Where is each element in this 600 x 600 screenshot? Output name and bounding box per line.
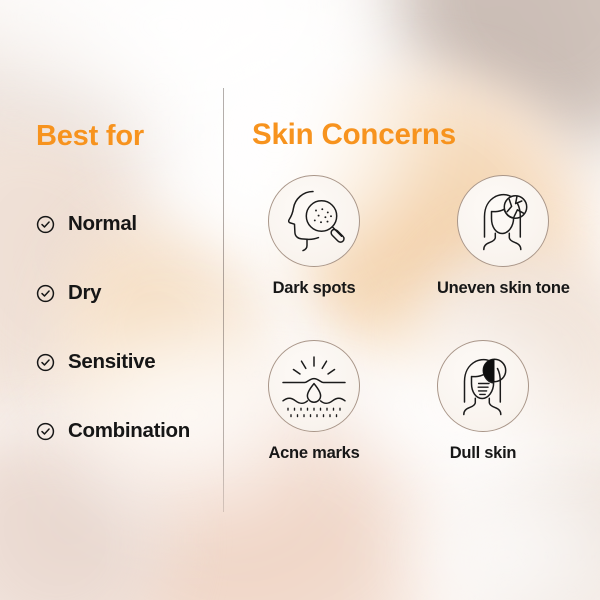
benefit-label: Combination	[68, 419, 190, 443]
check-circle-icon	[36, 422, 55, 441]
face-dull-contrast-icon	[437, 340, 529, 432]
concern-item-acne-marks: Acne marks	[268, 340, 360, 463]
benefit-label: Dry	[68, 281, 101, 305]
benefit-item-sensitive: Sensitive	[36, 350, 155, 374]
concern-item-dark-spots: Dark spots	[268, 175, 360, 298]
concern-label: Uneven skin tone	[437, 279, 570, 298]
check-circle-icon	[36, 215, 55, 234]
skin-concerns-panel: Dark spots	[223, 0, 600, 600]
concern-label: Acne marks	[268, 444, 359, 463]
face-uneven-tone-icon	[457, 175, 549, 267]
concern-label: Dull skin	[450, 444, 517, 463]
benefit-item-combination: Combination	[36, 419, 190, 443]
check-circle-icon	[36, 353, 55, 372]
benefit-label: Normal	[68, 212, 137, 236]
check-circle-icon	[36, 284, 55, 303]
face-magnifier-spots-icon	[268, 175, 360, 267]
concern-item-dull-skin: Dull skin	[437, 340, 529, 463]
benefit-item-normal: Normal	[36, 212, 137, 236]
concern-label: Dark spots	[273, 279, 356, 298]
benefit-label: Sensitive	[68, 350, 155, 374]
product-info-card: Best for Normal Dry	[0, 0, 600, 600]
best-for-heading: Best for	[36, 120, 144, 153]
best-for-panel: Best for Normal Dry	[0, 0, 223, 600]
concern-item-uneven-skin-tone: Uneven skin tone	[437, 175, 570, 298]
skin-layers-droplet-icon	[268, 340, 360, 432]
benefit-item-dry: Dry	[36, 281, 101, 305]
